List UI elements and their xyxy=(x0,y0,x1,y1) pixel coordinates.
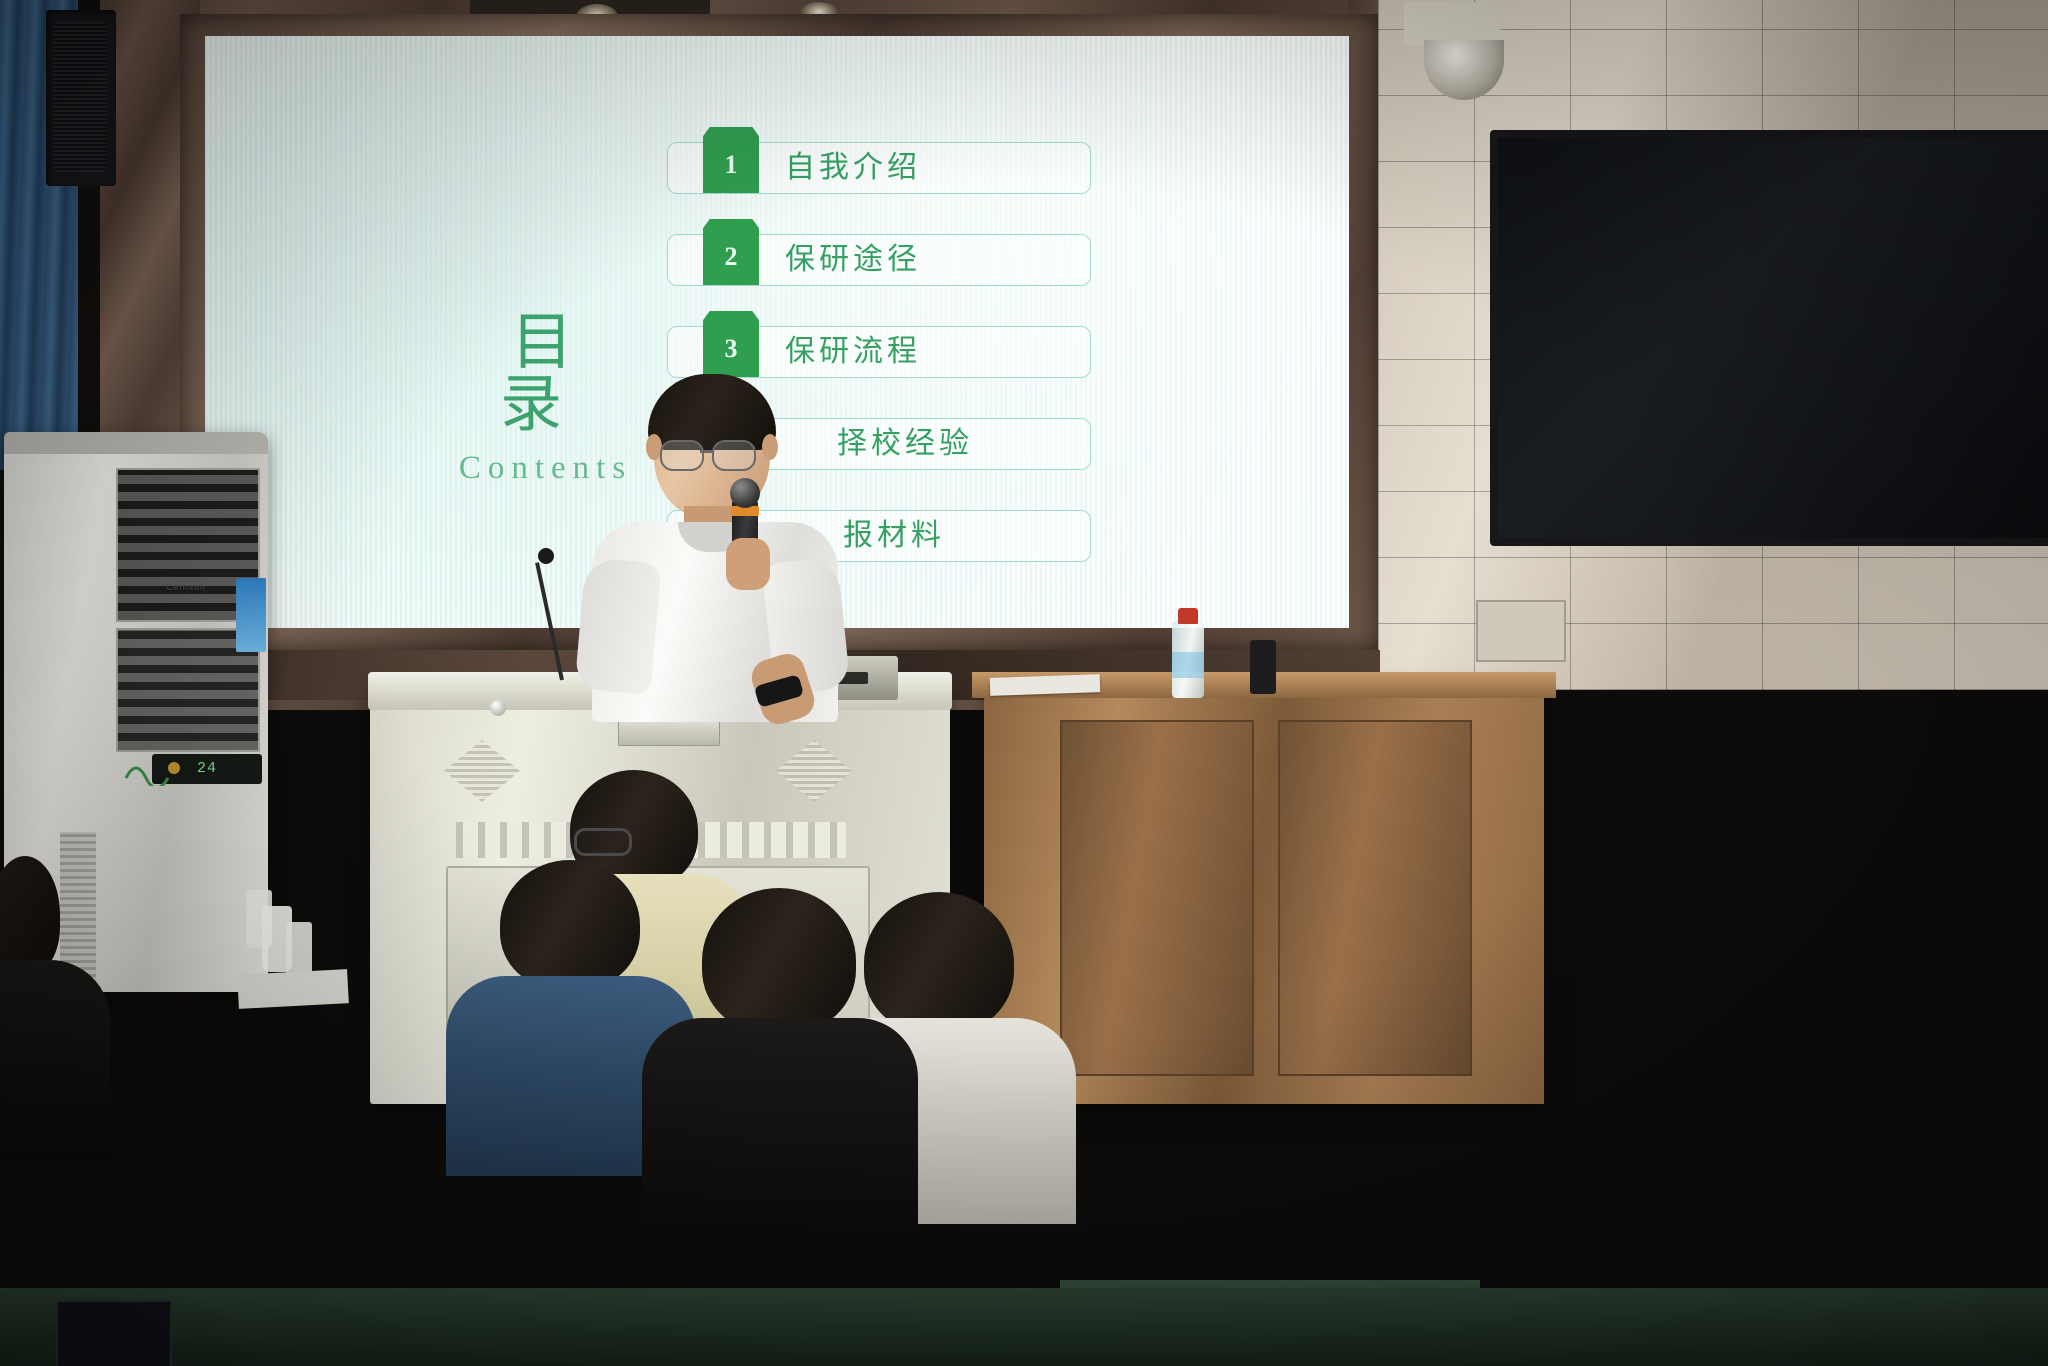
audience-head xyxy=(500,860,640,990)
presenter-hair xyxy=(648,374,776,450)
toc-item-3: 3 保研流程 xyxy=(667,326,1091,378)
paper-cup xyxy=(286,922,312,978)
toc-item-label: 保研途径 xyxy=(785,234,921,286)
toc-item-1: 1 自我介绍 xyxy=(667,142,1091,194)
laptop xyxy=(56,1300,172,1366)
audience-head xyxy=(702,888,856,1034)
remote-control xyxy=(1250,640,1276,694)
ac-logo-icon xyxy=(122,748,192,786)
audience-shoulders xyxy=(0,960,110,1160)
toc-item-label: 保研流程 xyxy=(785,326,921,378)
gooseneck-mic-head-icon xyxy=(538,548,554,564)
toc-item-2: 2 保研途径 xyxy=(667,234,1091,286)
microphone-grille-icon xyxy=(730,478,760,508)
audience-shoulders xyxy=(642,1018,918,1228)
presenter-hand xyxy=(726,538,770,590)
wall-display xyxy=(1490,130,2048,546)
toc-item-number-badge: 3 xyxy=(703,311,759,377)
wall-speaker xyxy=(46,10,116,186)
bottle-label xyxy=(1172,652,1204,678)
ac-brand-label: Cemauli xyxy=(166,582,246,596)
speaker-grille-icon xyxy=(54,22,106,172)
eyeglasses-lens-icon xyxy=(712,440,756,471)
toc-item-label: 自我介绍 xyxy=(785,142,921,194)
presenter-ear xyxy=(762,434,778,460)
wooden-podium-panel xyxy=(1278,720,1472,1076)
ac-top-cap xyxy=(4,432,268,454)
eyeglasses-lens-icon xyxy=(660,440,704,471)
lectern-nameplate xyxy=(618,718,720,746)
audience-bench xyxy=(0,1288,2048,1366)
eyeglasses-lens-icon xyxy=(574,828,632,856)
presenter xyxy=(560,380,860,710)
wooden-podium-panel xyxy=(1060,720,1254,1076)
audience-head xyxy=(864,892,1014,1034)
wall-panel xyxy=(1476,600,1566,662)
papers-stack xyxy=(990,674,1101,696)
bottle-cap xyxy=(1178,608,1198,624)
lectern-knob xyxy=(490,700,506,716)
toc-item-number-badge: 2 xyxy=(703,219,759,285)
lecture-hall-photo: 目 录 Contents 1 自我介绍 2 保研途径 3 保研流程 4 择校经验… xyxy=(0,0,2048,1366)
shirt-sleeve xyxy=(574,557,661,695)
paper-sheet xyxy=(237,969,349,1009)
display-screen xyxy=(1498,138,2048,538)
eyeglasses-bridge xyxy=(700,450,714,453)
toc-item-number-badge: 1 xyxy=(703,127,759,193)
